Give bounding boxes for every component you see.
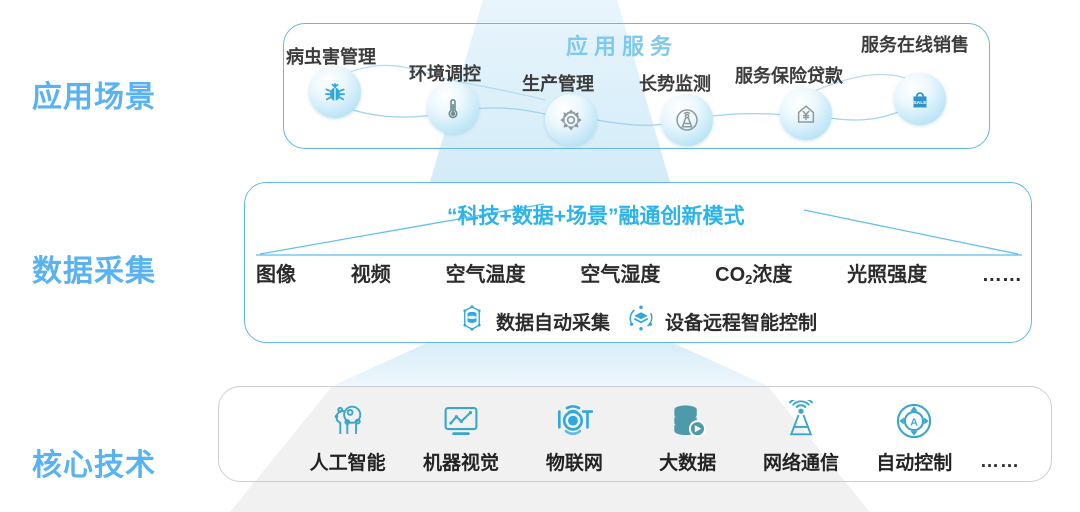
tech-item-label: 大数据 (659, 448, 716, 475)
layers-sync-icon (626, 303, 656, 339)
data-feature-auto-collection: 数据自动采集 (457, 303, 610, 339)
data-feature-remote-control: 设备远程智能控制 (626, 303, 817, 339)
node-label-online-sales: 服务在线销售 (861, 31, 969, 57)
data-term: 光照强度 (847, 258, 927, 287)
sale-tag-icon: SALE (894, 73, 946, 125)
tech-item-label: 人工智能 (310, 448, 386, 475)
tech-item-label: 网络通信 (763, 448, 839, 475)
row-label-technology: 核心技术 (32, 440, 156, 484)
data-term-co2: CO2浓度 (715, 258, 792, 287)
data-term: 空气湿度 (580, 258, 660, 287)
tech-ellipsis: …… (980, 451, 1020, 475)
row-label-application: 应用场景 (32, 72, 156, 116)
gear-icon (545, 94, 597, 146)
tech-item-iot: 物联网 (527, 398, 622, 475)
core-technology-list: 人工智能 机器视觉 (300, 398, 1020, 475)
tech-item-big-data: 大数据 (640, 398, 735, 475)
infographic-canvas: 应用场景 数据采集 核心技术 应用服务 病虫害管理 环境调控 生产管理 (0, 0, 1080, 512)
data-terms-list: 图像 视频 空气温度 空气湿度 CO2浓度 光照强度 …… (256, 258, 1022, 287)
svg-text:SALE: SALE (913, 100, 927, 106)
database-network-icon (457, 303, 487, 339)
tech-item-ai: 人工智能 (300, 398, 395, 475)
node-label-environment-control: 环境调控 (409, 60, 481, 86)
data-feature-label: 数据自动采集 (496, 308, 610, 335)
node-label-production-management: 生产管理 (522, 70, 594, 96)
tech-item-label: 自动控制 (876, 448, 952, 475)
data-collection-title: “科技+数据+场景”融通创新模式 (447, 200, 745, 230)
row-label-data: 数据采集 (32, 246, 156, 290)
big-data-icon (667, 398, 709, 444)
data-term: 视频 (351, 258, 391, 287)
data-term: 空气温度 (446, 258, 526, 287)
funnel-segment-middle (330, 341, 770, 387)
auto-control-icon: A (893, 398, 935, 444)
application-service-title: 应用服务 (566, 29, 678, 61)
tech-item-machine-vision: 机器视觉 (413, 398, 508, 475)
node-label-insurance-loan: 服务保险贷款 (735, 62, 843, 88)
machine-vision-icon (440, 398, 482, 444)
data-features-list: 数据自动采集 设备远程智能控制 (244, 303, 1030, 339)
tech-item-label: 物联网 (546, 448, 603, 475)
tech-item-network-communication: 网络通信 (753, 398, 848, 475)
iot-icon (553, 398, 595, 444)
tech-item-auto-control: A 自动控制 (867, 398, 962, 475)
tech-item-label: 机器视觉 (423, 448, 499, 475)
signal-tower-icon (661, 94, 713, 146)
svg-text:A: A (911, 416, 919, 428)
network-antenna-icon (780, 398, 822, 444)
node-label-growth-monitoring: 长势监测 (639, 70, 711, 96)
house-yuan-icon (780, 88, 832, 140)
data-term-ellipsis: …… (982, 264, 1022, 287)
data-feature-label: 设备远程智能控制 (665, 308, 817, 335)
data-term: 图像 (256, 258, 296, 287)
bug-icon (309, 66, 361, 118)
ai-brain-icon (327, 398, 369, 444)
thermometer-icon (427, 82, 479, 134)
node-label-pest-management: 病虫害管理 (286, 43, 376, 69)
